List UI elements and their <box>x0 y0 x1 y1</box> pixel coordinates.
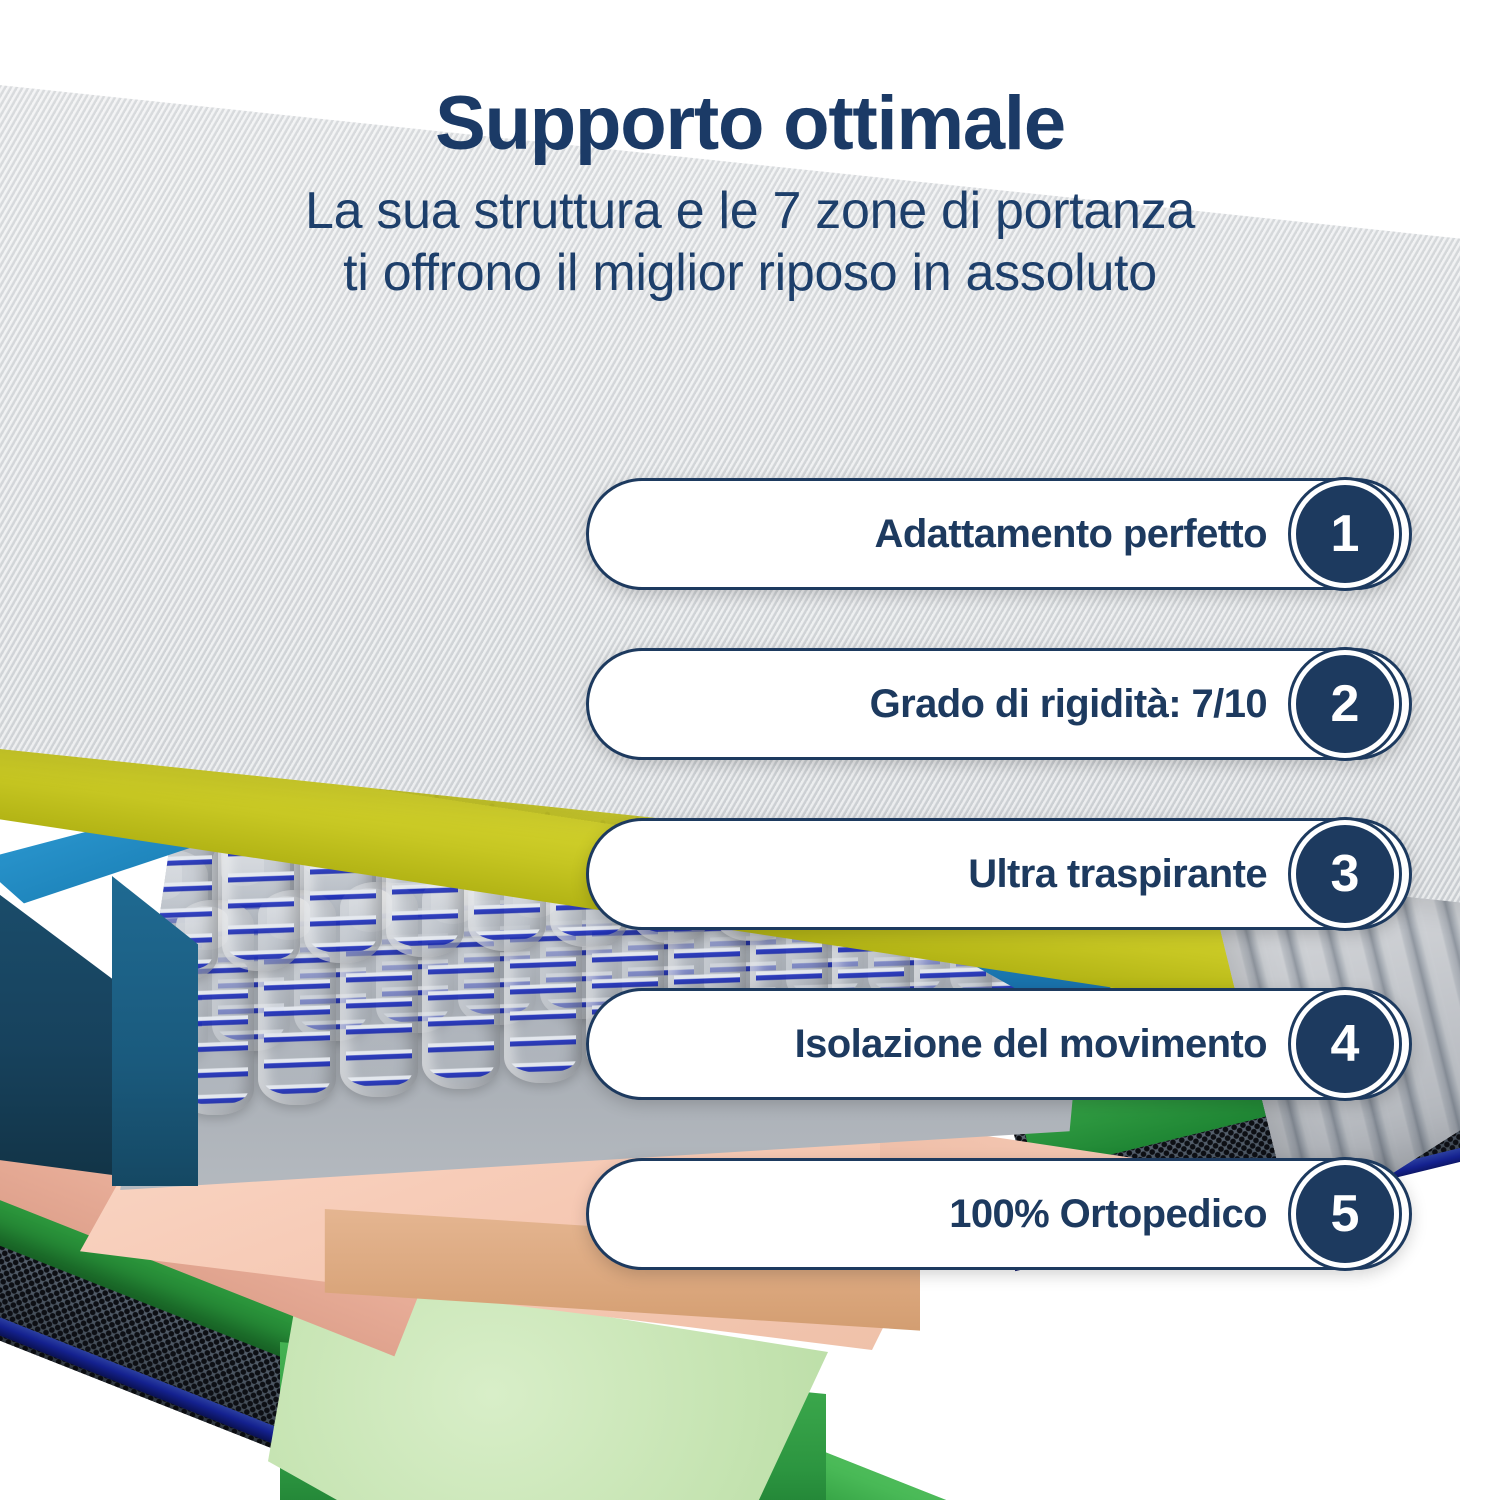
feature-label-4: Isolazione del movimento <box>795 1022 1291 1067</box>
subtitle-line-2: ti offrono il miglior riposo in assoluto <box>0 242 1500 304</box>
feature-number-badge-1: 1 <box>1291 480 1399 588</box>
subtitle-line-1: La sua struttura e le 7 zone di portanza <box>0 180 1500 242</box>
feature-label-3: Ultra traspirante <box>968 852 1291 897</box>
feature-label-5: 100% Ortopedico <box>949 1192 1291 1237</box>
header-block: Supporto ottimale La sua struttura e le … <box>0 86 1500 305</box>
feature-pill-2[interactable]: Grado di rigidità: 7/10 2 <box>586 648 1412 760</box>
feature-pill-5[interactable]: 100% Ortopedico 5 <box>586 1158 1412 1270</box>
feature-label-1: Adattamento perfetto <box>875 512 1291 557</box>
feature-pill-4[interactable]: Isolazione del movimento 4 <box>586 988 1412 1100</box>
infographic-canvas: Supporto ottimale La sua struttura e le … <box>0 0 1500 1500</box>
feature-number-badge-4: 4 <box>1291 990 1399 1098</box>
page-title: Supporto ottimale <box>0 86 1500 162</box>
page-subtitle: La sua struttura e le 7 zone di portanza… <box>0 180 1500 305</box>
feature-label-2: Grado di rigidità: 7/10 <box>870 682 1291 727</box>
feature-number-badge-2: 2 <box>1291 650 1399 758</box>
feature-number-badge-3: 3 <box>1291 820 1399 928</box>
feature-number-badge-5: 5 <box>1291 1160 1399 1268</box>
feature-pill-3[interactable]: Ultra traspirante 3 <box>586 818 1412 930</box>
feature-pill-1[interactable]: Adattamento perfetto 1 <box>586 478 1412 590</box>
